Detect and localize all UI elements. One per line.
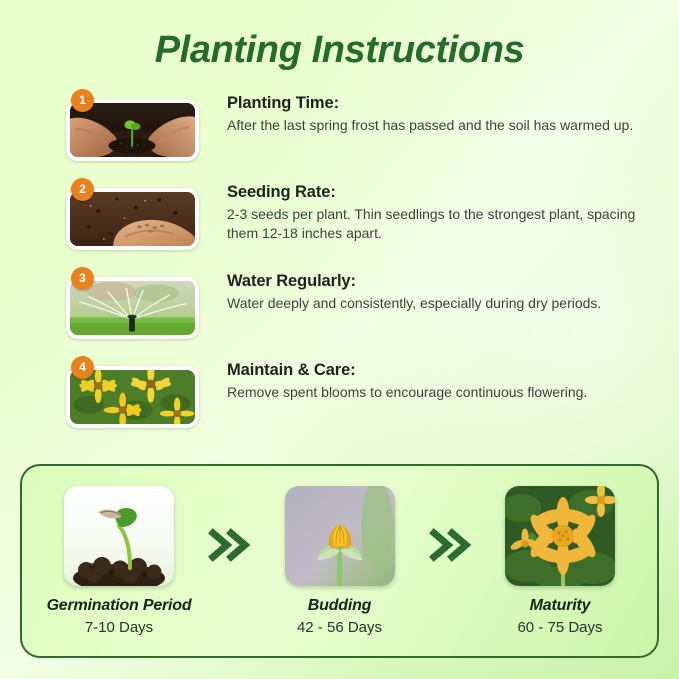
page-title: Planting Instructions bbox=[0, 0, 679, 72]
step-title: Planting Time: bbox=[227, 94, 633, 113]
sprouting-seed-in-soil-photo bbox=[64, 486, 174, 586]
double-chevron-right-icon bbox=[426, 521, 474, 569]
step-number-badge: 2 bbox=[71, 178, 94, 201]
step-text: Maintain & Care: Remove spent blooms to … bbox=[199, 357, 587, 402]
step-item: 4 bbox=[66, 357, 657, 428]
step-thumbnail-wrap: 3 bbox=[66, 277, 199, 339]
step-text: Water Regularly: Water deeply and consis… bbox=[199, 268, 601, 313]
stage-label: Budding bbox=[308, 597, 371, 615]
step-title: Water Regularly: bbox=[227, 272, 601, 291]
timeline-stage: Budding 42 - 56 Days bbox=[265, 486, 415, 636]
stage-label: Maturity bbox=[530, 597, 591, 615]
mature-yellow-flower-photo bbox=[505, 486, 615, 586]
growth-timeline-panel: Germination Period 7-10 Days bbox=[20, 464, 659, 658]
step-description: 2-3 seeds per plant. Thin seedlings to t… bbox=[227, 205, 647, 243]
step-item: 3 bbox=[66, 268, 657, 339]
double-chevron-right-icon bbox=[205, 521, 253, 569]
timeline-stage: Maturity 60 - 75 Days bbox=[485, 486, 635, 636]
step-number-badge: 3 bbox=[71, 267, 94, 290]
yellow-flower-bud-photo bbox=[285, 486, 395, 586]
step-description: After the last spring frost has passed a… bbox=[227, 116, 633, 135]
step-text: Planting Time: After the last spring fro… bbox=[199, 90, 633, 135]
stage-duration: 7-10 Days bbox=[85, 619, 153, 636]
step-number-badge: 1 bbox=[71, 89, 94, 112]
stage-label: Germination Period bbox=[47, 597, 192, 615]
step-thumbnail-wrap: 1 bbox=[66, 99, 199, 161]
step-item: 2 bbox=[66, 179, 657, 250]
steps-list: 1 bbox=[0, 90, 679, 428]
step-item: 1 bbox=[66, 90, 657, 161]
timeline-stage: Germination Period 7-10 Days bbox=[44, 486, 194, 636]
planting-instructions-infographic: Planting Instructions 1 bbox=[0, 0, 679, 679]
step-description: Remove spent blooms to encourage continu… bbox=[227, 383, 587, 402]
step-title: Maintain & Care: bbox=[227, 361, 587, 380]
stage-duration: 42 - 56 Days bbox=[297, 619, 382, 636]
step-thumbnail-wrap: 4 bbox=[66, 366, 199, 428]
step-thumbnail-wrap: 2 bbox=[66, 188, 199, 250]
step-number-badge: 4 bbox=[71, 356, 94, 379]
stage-duration: 60 - 75 Days bbox=[517, 619, 602, 636]
step-title: Seeding Rate: bbox=[227, 183, 647, 202]
step-description: Water deeply and consistently, especiall… bbox=[227, 294, 601, 313]
step-text: Seeding Rate: 2-3 seeds per plant. Thin … bbox=[199, 179, 647, 243]
